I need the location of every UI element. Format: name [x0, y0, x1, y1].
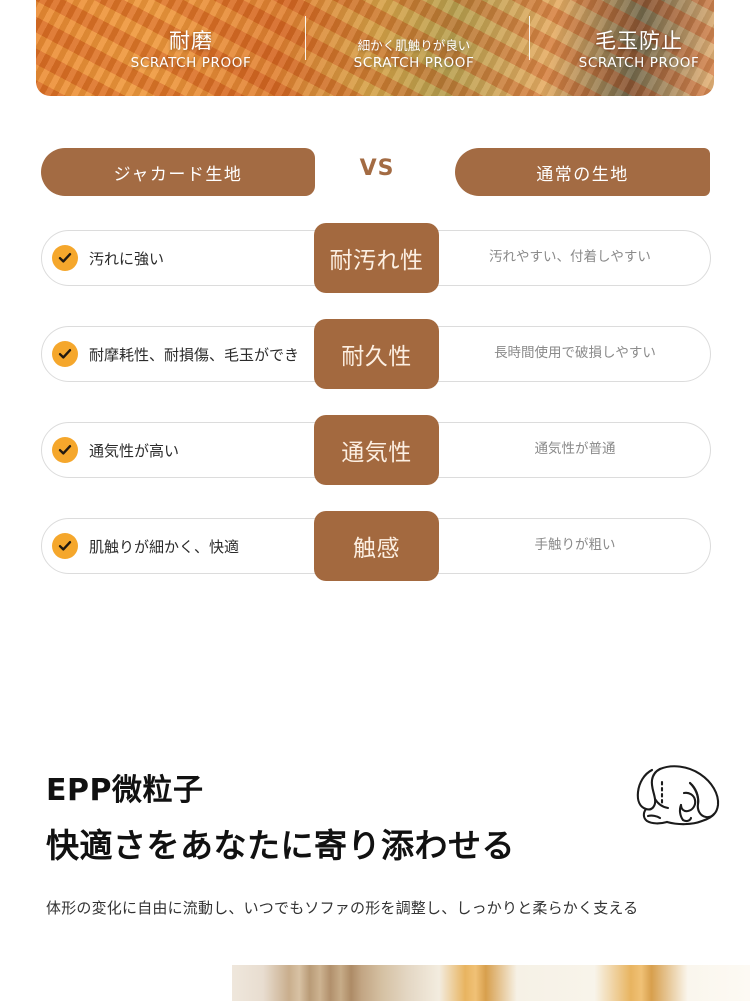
comparison-row-bad: 長時間使用で破損しやすい — [440, 326, 710, 382]
normal-fabric-pill: 通常の生地 — [455, 148, 710, 196]
comparison-row-bad: 汚れやすい、付着しやすい — [489, 230, 709, 286]
comparison-row-bad: 手触りが粗い — [440, 518, 710, 574]
good-text: 通気性が高い — [89, 440, 179, 461]
elephant-icon — [622, 760, 726, 835]
banner-cell-2: 細かく肌触りが良い SCRATCH PROOF — [319, 39, 509, 72]
feature-banner: 耐磨 SCRATCH PROOF 細かく肌触りが良い SCRATCH PROOF… — [36, 0, 714, 96]
good-text: 汚れに強い — [89, 248, 164, 269]
banner-cell-1-title: 耐磨 — [96, 29, 286, 54]
room-photo-image — [232, 965, 750, 1001]
comparison-row-good: 耐摩耗性、耐損傷、毛玉ができ — [52, 326, 299, 382]
comparison-row-good: 通気性が高い — [52, 422, 179, 478]
banner-cell-1-en: SCRATCH PROOF — [96, 56, 286, 72]
epp-description: 体形の変化に自由に流動し、いつでもソファの形を調整し、しっかりと柔らかく支える — [46, 897, 638, 918]
banner-divider-1 — [305, 16, 306, 60]
comparison-badge: 耐久性 — [314, 319, 439, 389]
check-icon — [52, 533, 78, 559]
comparison-row-bad: 通気性が普通 — [440, 422, 710, 478]
comparison-row: 汚れに強い 耐汚れ性 汚れやすい、付着しやすい — [0, 230, 750, 286]
vs-label: VS — [347, 156, 407, 181]
comparison-badge: 触感 — [314, 511, 439, 581]
banner-cell-1: 耐磨 SCRATCH PROOF — [96, 29, 286, 72]
jacquard-fabric-pill: ジャカード生地 — [41, 148, 315, 196]
banner-cell-2-sub: 細かく肌触りが良い — [319, 39, 509, 54]
comparison-row: 肌触りが細かく、快適 触感 手触りが粗い — [0, 518, 750, 574]
banner-cell-2-en: SCRATCH PROOF — [319, 56, 509, 72]
banner-cell-3-en: SCRATCH PROOF — [544, 56, 714, 72]
banner-divider-2 — [529, 16, 530, 60]
room-photo — [0, 965, 750, 1001]
comparison-badge: 耐汚れ性 — [314, 223, 439, 293]
good-text: 耐摩耗性、耐損傷、毛玉ができ — [89, 344, 299, 365]
comparison-row: 通気性が高い 通気性 通気性が普通 — [0, 422, 750, 478]
banner-cell-3: 毛玉防止 SCRATCH PROOF — [544, 29, 714, 72]
comparison-header: ジャカード生地 VS 通常の生地 — [0, 148, 750, 198]
comparison-row-good: 肌触りが細かく、快適 — [52, 518, 239, 574]
comparison-badge: 通気性 — [314, 415, 439, 485]
comparison-table: 汚れに強い 耐汚れ性 汚れやすい、付着しやすい 耐摩耗性、耐損傷、毛玉ができ 耐… — [0, 230, 750, 614]
comparison-row-good: 汚れに強い — [52, 230, 164, 286]
check-icon — [52, 245, 78, 271]
banner-cell-3-title: 毛玉防止 — [544, 29, 714, 54]
check-icon — [52, 437, 78, 463]
comparison-row: 耐摩耗性、耐損傷、毛玉ができ 耐久性 長時間使用で破損しやすい — [0, 326, 750, 382]
epp-subtitle-headline: 快適さをあなたに寄り添わせる — [46, 819, 515, 867]
check-icon — [52, 341, 78, 367]
good-text: 肌触りが細かく、快適 — [89, 536, 239, 557]
epp-title: EPP微粒子 — [46, 765, 203, 809]
